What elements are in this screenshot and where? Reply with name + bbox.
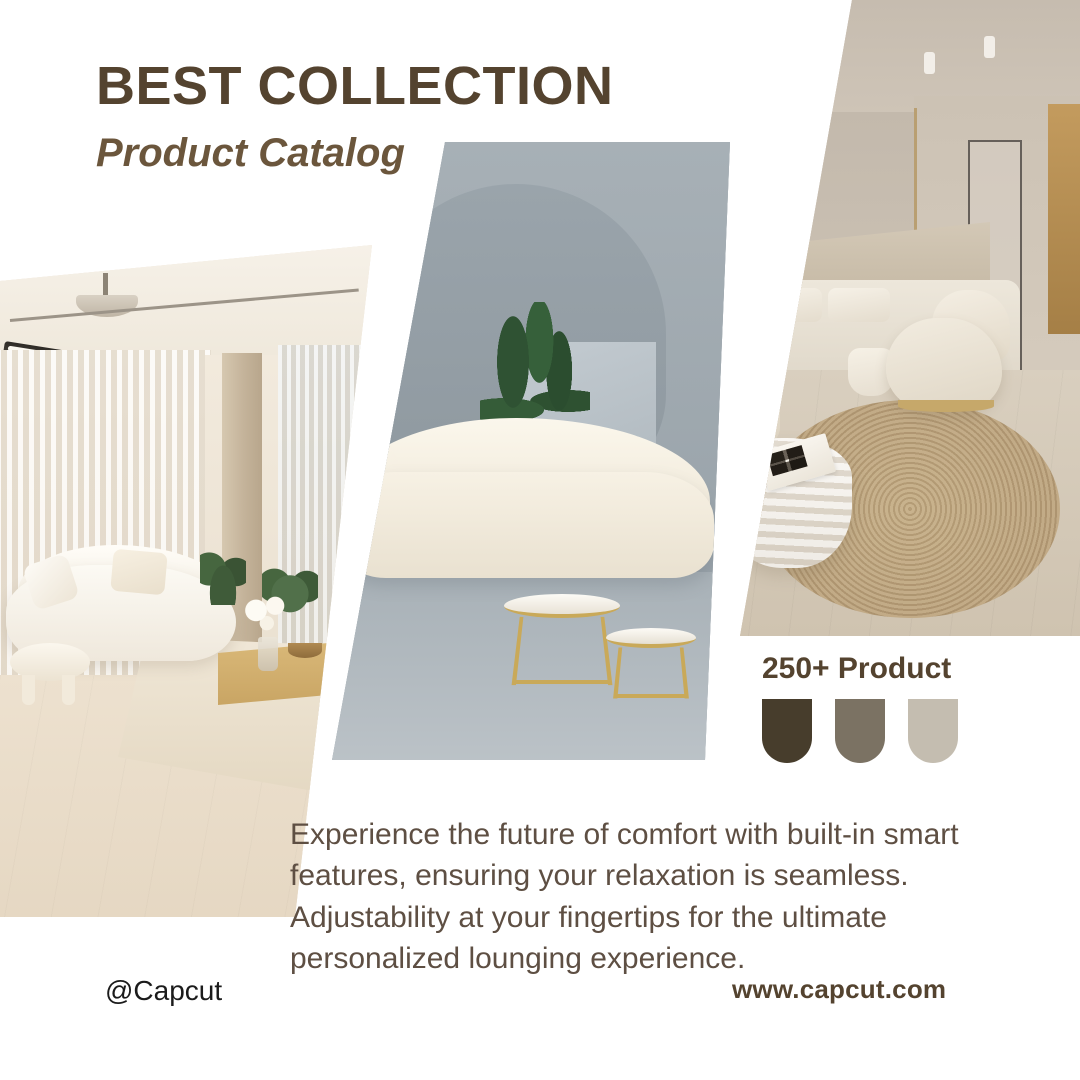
table-base: [516, 680, 608, 684]
product-count-label: 250+ Product: [762, 652, 958, 686]
wall-tapestry: [1048, 104, 1080, 334]
product-count-block: 250+ Product: [762, 652, 958, 763]
social-handle: @Capcut: [105, 975, 222, 1007]
chair-gold-base: [898, 400, 994, 412]
grey-studio-scene: [320, 142, 730, 760]
color-swatch-warm-taupe[interactable]: [835, 699, 885, 763]
table-legs: [512, 617, 613, 685]
ceramic-vase: [740, 432, 760, 468]
throw-pillow: [110, 549, 167, 596]
wooden-bowl: [288, 643, 322, 658]
stool-leg: [22, 675, 35, 705]
marble-nesting-table-large: [504, 594, 620, 618]
dried-twigs: [744, 396, 774, 436]
bed-pillow: [828, 288, 890, 322]
spotlight-icon: [984, 36, 995, 58]
color-swatch-group: [762, 699, 958, 763]
concrete-bedroom-scene: [700, 0, 1080, 636]
gallery-image-concrete-bedroom: [700, 0, 1080, 636]
description-text: Experience the future of comfort with bu…: [290, 814, 970, 980]
page-title: BEST COLLECTION: [96, 58, 614, 115]
gallery-image-grey-studio-sofa: [320, 142, 730, 760]
table-legs: [613, 647, 689, 698]
boucle-lounge-chair: [886, 318, 1002, 410]
header: BEST COLLECTION Product Catalog: [96, 58, 614, 176]
color-swatch-dark-olive-brown[interactable]: [762, 699, 812, 763]
website-url[interactable]: www.capcut.com: [732, 974, 946, 1005]
glass-vase: [258, 637, 278, 671]
color-swatch-light-greige[interactable]: [908, 699, 958, 763]
bed-pillow: [760, 288, 822, 322]
stool-leg: [62, 675, 75, 705]
table-base: [616, 694, 686, 698]
page-subtitle: Product Catalog: [96, 131, 614, 176]
spotlight-icon: [924, 52, 935, 74]
marble-nesting-table-small: [606, 628, 696, 648]
curved-sofa: [336, 472, 714, 578]
